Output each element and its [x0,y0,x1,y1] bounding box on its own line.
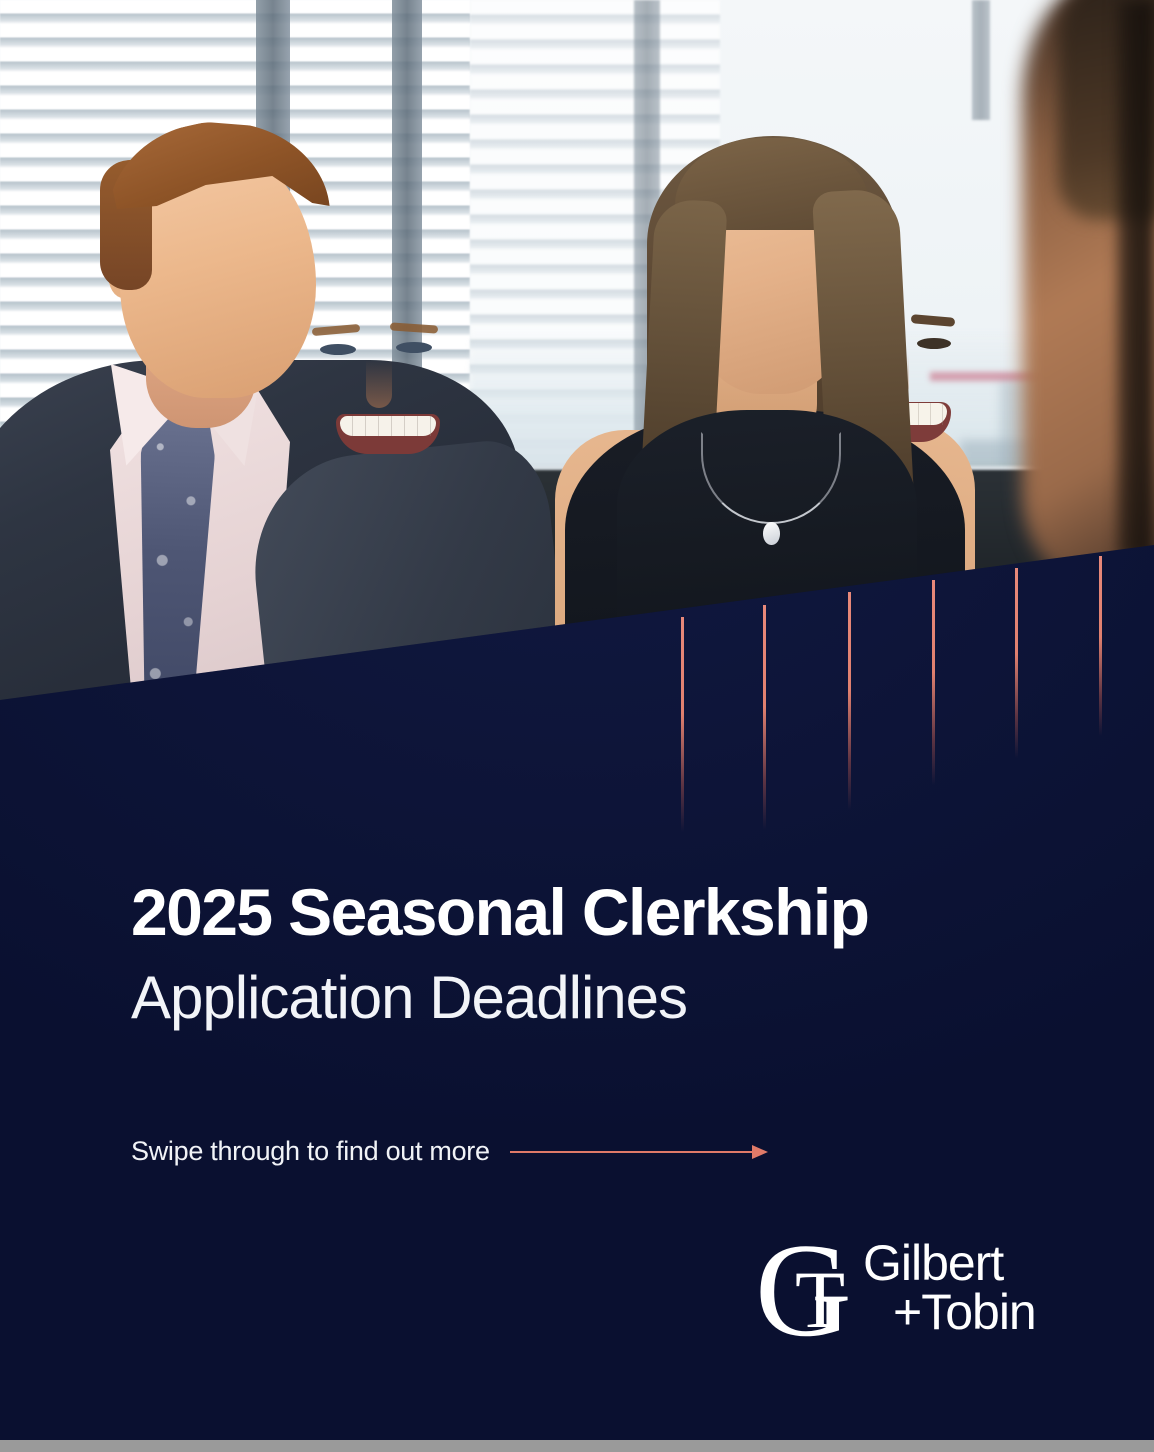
gilbert-tobin-logo: G T Gilbert +Tobin [755,1233,1036,1341]
logo-wordmark: Gilbert +Tobin [863,1233,1036,1337]
arrow-head [752,1145,768,1159]
logo-wordmark-line-1: Gilbert [863,1239,1036,1288]
arrow-shaft [510,1151,754,1154]
swipe-cta[interactable]: Swipe through to find out more [131,1136,768,1167]
clerkship-deadlines-slide: 2025 Seasonal Clerkship Application Dead… [0,0,1154,1452]
bottom-strip [0,1440,1154,1452]
swipe-cta-label: Swipe through to find out more [131,1136,490,1167]
logo-wordmark-line-2: +Tobin [863,1288,1036,1337]
slide-content: 2025 Seasonal Clerkship Application Dead… [0,0,1154,1452]
page-title-line-1: 2025 Seasonal Clerkship [131,879,868,945]
page-title-line-2: Application Deadlines [131,968,687,1028]
logo-letter-t: T [795,1259,845,1341]
arrow-right-icon [510,1145,768,1159]
logo-monogram-icon: G T [755,1233,841,1341]
